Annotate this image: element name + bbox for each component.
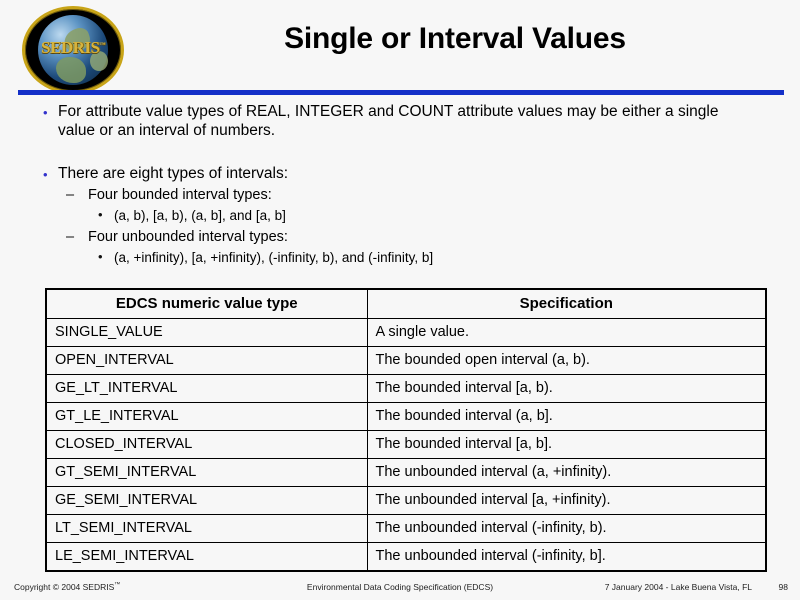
slide-body: • For attribute value types of REAL, INT… — [0, 102, 800, 267]
bullet-text: There are eight types of intervals: — [58, 165, 288, 182]
table-cell-type: SINGLE_VALUE — [47, 318, 367, 346]
title-divider — [18, 90, 784, 95]
table-row: GE_LT_INTERVAL The bounded interval [a, … — [47, 374, 765, 402]
edcs-table-container: EDCS numeric value type Specification SI… — [45, 288, 767, 572]
table-cell-spec: The bounded interval (a, b]. — [367, 402, 765, 430]
slide-footer: Copyright © 2004 SEDRIS™ Environmental D… — [0, 578, 800, 600]
sedris-logo: SEDRIS™ — [22, 6, 124, 94]
table-row: LE_SEMI_INTERVAL The unbounded interval … — [47, 542, 765, 570]
bullet-marker-dash: – — [66, 228, 74, 247]
sub-sub-bullet-text: (a, +infinity), [a, +infinity), (-infini… — [114, 250, 433, 265]
bullet-marker-dot-small: • — [98, 206, 103, 224]
table-row: GT_LE_INTERVAL The bounded interval (a, … — [47, 402, 765, 430]
bullet-marker-dot: • — [43, 165, 48, 184]
table-cell-type: OPEN_INTERVAL — [47, 346, 367, 374]
sub-sub-bullet-text: (a, b), [a, b), (a, b], and [a, b] — [114, 208, 286, 223]
sub-sub-bullet-item-2: • (a, +infinity), [a, +infinity), (-infi… — [96, 249, 800, 267]
bullet-marker-dot: • — [43, 103, 48, 122]
table-header-row: EDCS numeric value type Specification — [47, 290, 765, 318]
table-header-cell-spec: Specification — [367, 290, 765, 318]
bullet-marker-dash: – — [66, 186, 74, 205]
footer-page-number: 98 — [779, 582, 788, 592]
table-cell-type: GT_LE_INTERVAL — [47, 402, 367, 430]
footer-event-info: 7 January 2004 - Lake Buena Vista, FL — [605, 582, 752, 592]
table-cell-spec: The bounded interval [a, b). — [367, 374, 765, 402]
table-row: CLOSED_INTERVAL The bounded interval [a,… — [47, 430, 765, 458]
table-row: SINGLE_VALUE A single value. — [47, 318, 765, 346]
sub-bullet-item-2: – Four unbounded interval types: — [66, 228, 800, 247]
sub-bullet-text: Four unbounded interval types: — [88, 229, 288, 245]
table-cell-spec: A single value. — [367, 318, 765, 346]
bullet-item-1: • For attribute value types of REAL, INT… — [42, 102, 758, 140]
sub-bullet-text: Four bounded interval types: — [88, 187, 272, 203]
table-cell-spec: The unbounded interval [a, +infinity). — [367, 486, 765, 514]
table-cell-spec: The unbounded interval (a, +infinity). — [367, 458, 765, 486]
globe-landmass-south — [56, 57, 86, 83]
table-cell-spec: The unbounded interval (-infinity, b]. — [367, 542, 765, 570]
slide-header: SEDRIS™ Single or Interval Values — [0, 0, 800, 96]
table-row: OPEN_INTERVAL The bounded open interval … — [47, 346, 765, 374]
sub-bullet-item-1: – Four bounded interval types: — [66, 186, 800, 205]
table-cell-type: LE_SEMI_INTERVAL — [47, 542, 367, 570]
table-row: LT_SEMI_INTERVAL The unbounded interval … — [47, 514, 765, 542]
table-cell-type: GT_SEMI_INTERVAL — [47, 458, 367, 486]
edcs-numeric-value-type-table: EDCS numeric value type Specification SI… — [47, 290, 765, 570]
sedris-wordmark-text: SEDRIS — [41, 38, 99, 57]
bullet-item-2: • There are eight types of intervals: — [42, 164, 758, 183]
table-cell-spec: The bounded open interval (a, b). — [367, 346, 765, 374]
table-row: GT_SEMI_INTERVAL The unbounded interval … — [47, 458, 765, 486]
bullet-text: For attribute value types of REAL, INTEG… — [58, 103, 718, 139]
table-cell-spec: The bounded interval [a, b]. — [367, 430, 765, 458]
table-cell-type: CLOSED_INTERVAL — [47, 430, 367, 458]
page-title: Single or Interval Values — [130, 22, 780, 56]
bullet-marker-dot-small: • — [98, 248, 103, 266]
table-cell-type: LT_SEMI_INTERVAL — [47, 514, 367, 542]
sedris-wordmark: SEDRIS™ — [25, 39, 121, 56]
table-body: SINGLE_VALUE A single value. OPEN_INTERV… — [47, 318, 765, 570]
sub-sub-bullet-item-1: • (a, b), [a, b), (a, b], and [a, b] — [96, 207, 800, 225]
table-cell-type: GE_SEMI_INTERVAL — [47, 486, 367, 514]
table-cell-type: GE_LT_INTERVAL — [47, 374, 367, 402]
table-cell-spec: The unbounded interval (-infinity, b). — [367, 514, 765, 542]
table-header-cell-type: EDCS numeric value type — [47, 290, 367, 318]
table-row: GE_SEMI_INTERVAL The unbounded interval … — [47, 486, 765, 514]
sedris-wordmark-tm: ™ — [99, 42, 105, 48]
